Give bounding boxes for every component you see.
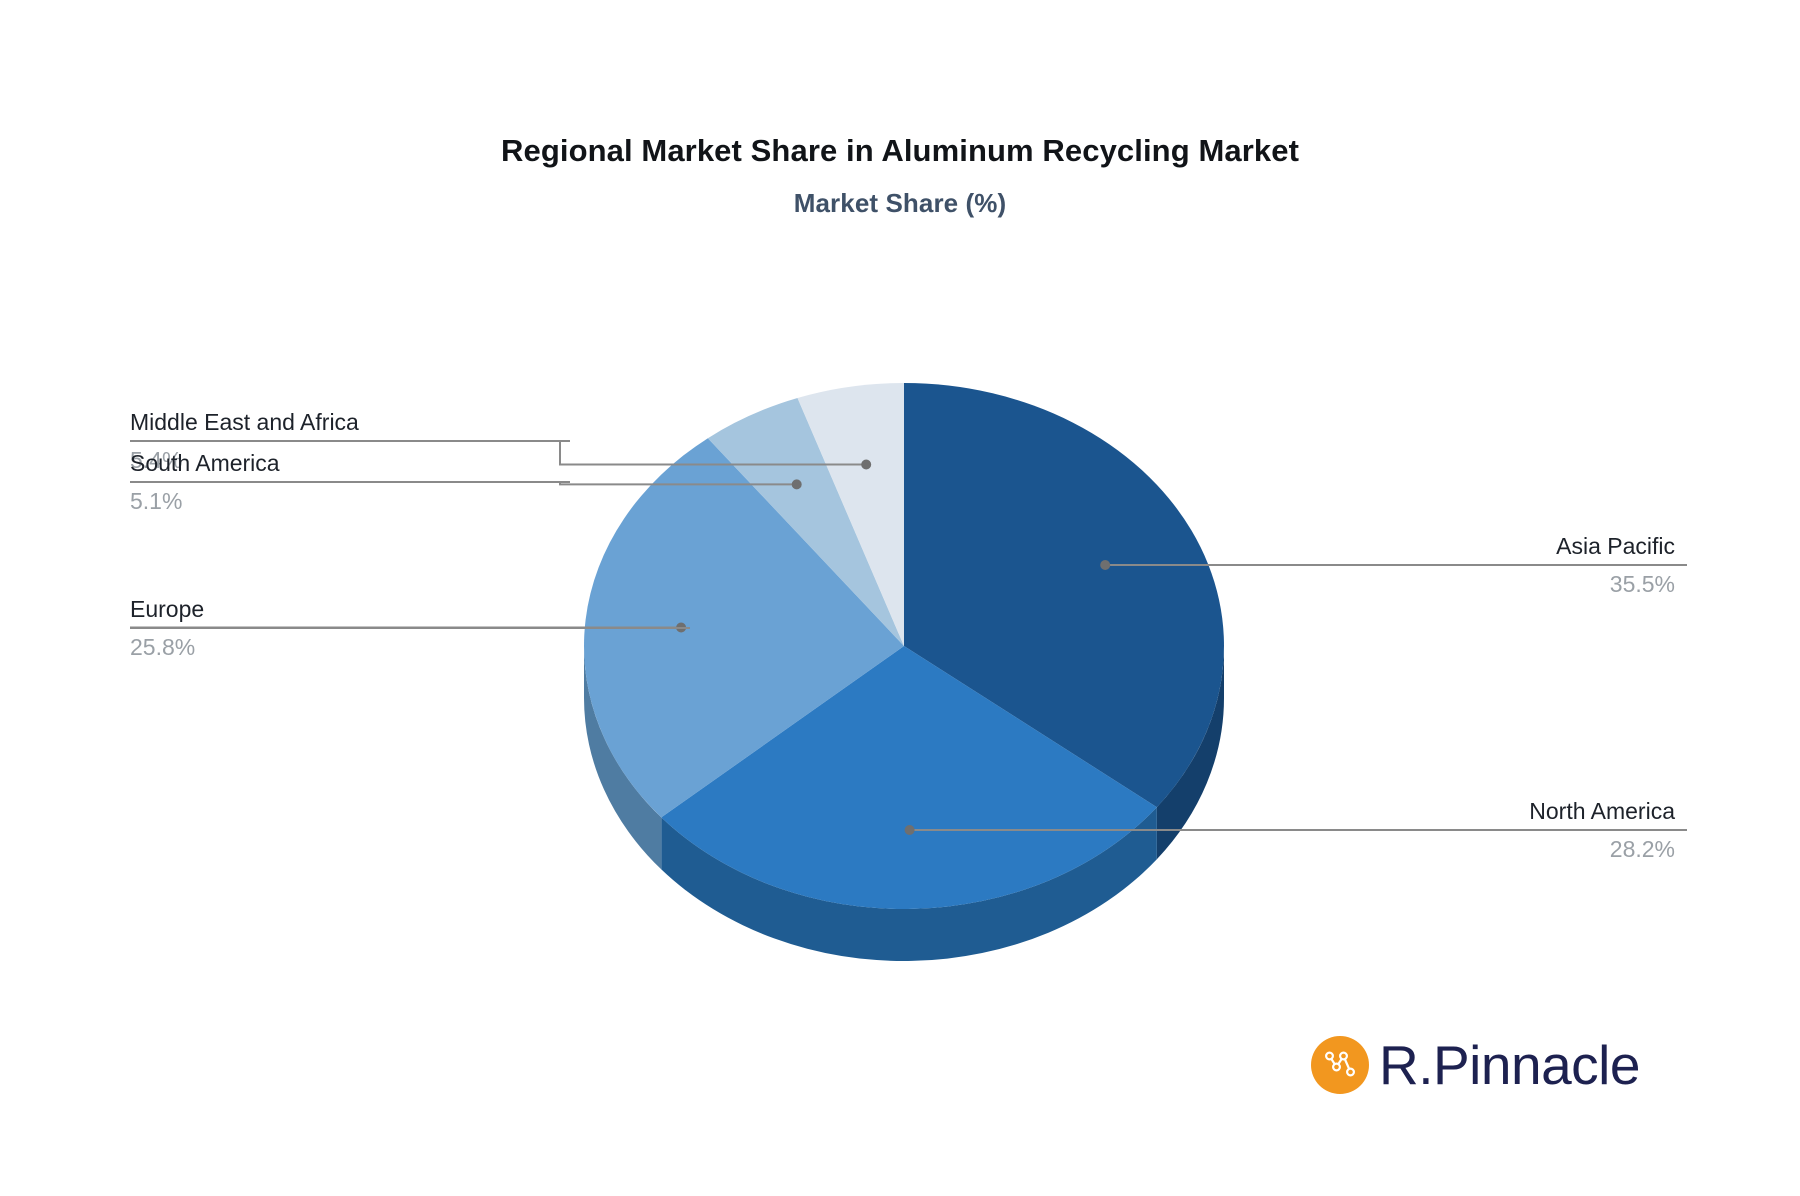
callout-label: Middle East and Africa (130, 407, 570, 437)
callout-value: 25.8% (130, 631, 690, 663)
callout-label: South America (130, 448, 570, 478)
callout-asia-pacific: Asia Pacific 35.5% (1120, 531, 1675, 600)
callout-label: Europe (130, 594, 690, 624)
callout-europe: Europe 25.8% (130, 594, 690, 663)
anchor-dot-south-america (792, 479, 802, 489)
callout-rule (130, 440, 570, 442)
callout-value: 5.1% (130, 485, 570, 517)
callout-value: 28.2% (1120, 833, 1675, 865)
callout-rule (1120, 564, 1675, 566)
brand-name: R.Pinnacle (1379, 1036, 1640, 1094)
anchor-dot-asia-pacific (1100, 560, 1110, 570)
anchor-dot-middle-east-and-africa (861, 460, 871, 470)
callout-label: Asia Pacific (1120, 531, 1675, 561)
callout-north-america: North America 28.2% (1120, 796, 1675, 865)
callout-rule (130, 627, 690, 629)
anchor-dot-north-america (905, 825, 915, 835)
callout-rule (130, 481, 570, 483)
callout-label: North America (1120, 796, 1675, 826)
callout-south-america: South America 5.1% (130, 448, 570, 517)
callout-rule (1120, 829, 1675, 831)
chart-canvas: Regional Market Share in Aluminum Recycl… (0, 0, 1800, 1196)
brand-logo: R.Pinnacle (1311, 1036, 1640, 1094)
callout-value: 35.5% (1120, 568, 1675, 600)
network-nodes-icon (1311, 1036, 1369, 1094)
